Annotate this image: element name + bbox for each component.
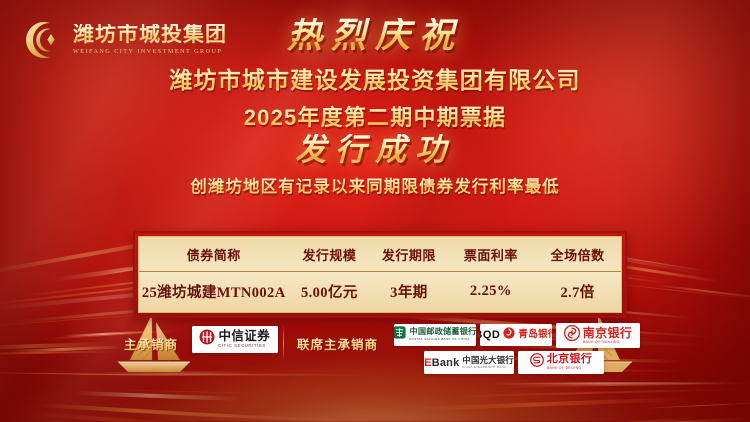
cell-issue-term: 3年期 [370, 272, 447, 313]
underwriters-section: 主承销商 联席主承销商 中信证券 CITIC SECURITIES [0, 322, 750, 382]
issue-name-line: 2025年度第二期中期票据 [0, 100, 750, 132]
light-ray [581, 417, 748, 422]
light-ray [453, 388, 745, 398]
everbright-logo-icon: EBank [424, 357, 459, 369]
celebrate-title: 热烈庆祝 [0, 18, 750, 55]
company-name-line: 潍坊市城市建设发展投资集团有限公司 [0, 61, 750, 95]
th-subscription-multiple: 全场倍数 [534, 237, 621, 272]
cell-issue-size: 5.00亿元 [288, 272, 370, 313]
celebration-poster: 潍坊市城投集团 WEIFANG CITY INVESTMENT GROUP 热烈… [0, 0, 750, 422]
ceb-name-cn: 中国光大银行 [462, 356, 513, 364]
ceb-name-en: CHINA EVERBRIGHT BANK [462, 366, 509, 369]
cell-bond-name: 25潍坊城建MTN002A [139, 272, 288, 313]
th-bond-name: 债券简称 [139, 237, 288, 272]
cell-coupon-rate: 2.25% [447, 272, 534, 313]
light-ray [496, 382, 750, 388]
light-ray [490, 382, 732, 385]
light-ray [100, 408, 370, 422]
lead-underwriter-label: 主承销商 [124, 334, 178, 353]
citic-securities-logo-icon [199, 329, 215, 350]
bond-table-head: 债券简称 发行规模 发行期限 票面利率 全场倍数 [139, 237, 621, 272]
cell-subscription-multiple: 2.7倍 [534, 272, 621, 313]
th-coupon-rate: 票面利率 [447, 237, 534, 272]
bob-name-cn: 北京银行 [547, 354, 593, 365]
bank-of-nanjing-logo-icon [564, 325, 580, 346]
headline-block: 热烈庆祝 潍坊市城市建设发展投资集团有限公司 2025年度第二期中期票据 发行成… [0, 18, 750, 197]
light-ray [38, 403, 257, 420]
citic-name-cn: 中信证券 [218, 330, 270, 343]
success-title: 发行成功 [0, 134, 750, 167]
citic-name-en: CITIC SECURITIES [218, 345, 266, 349]
bond-table-inner: 债券简称 发行规模 发行期限 票面利率 全场倍数 25潍坊城建MTN002A 5… [138, 236, 622, 313]
joint-underwriter-label: 联席主承销商 [297, 334, 378, 353]
light-ray [30, 412, 191, 422]
table-row: 25潍坊城建MTN002A 5.00亿元 3年期 2.25% 2.7倍 [139, 272, 621, 313]
bank-of-beijing-logo-icon [530, 353, 544, 372]
underwriter-divider [283, 324, 284, 362]
light-ray [653, 283, 750, 300]
bond-table-body: 25潍坊城建MTN002A 5.00亿元 3年期 2.25% 2.7倍 [139, 272, 621, 313]
psbc-logo-icon [394, 326, 406, 344]
bqd-name-cn: 青岛银行 [518, 330, 552, 340]
bqd-logo-icon [503, 326, 515, 344]
underwriter-logo-bank-of-qingdao: BQD 青岛银行 [480, 324, 552, 346]
light-ray [100, 389, 288, 395]
nanjing-name-en: BANK OF NANJING [583, 341, 629, 344]
nanjing-name-cn: 南京银行 [583, 327, 633, 339]
subtitle-line: 创潍坊地区有记录以来同期限债券发行利率最低 [0, 173, 750, 197]
th-issue-term: 发行期限 [370, 237, 447, 272]
table-header-row: 债券简称 发行规模 发行期限 票面利率 全场倍数 [139, 237, 621, 272]
underwriter-logo-psbc: 中国邮政储蓄银行 POSTAL SAVINGS BANK OF CHINA [394, 324, 476, 346]
psbc-name-cn: 中国邮政储蓄银行 [409, 328, 476, 336]
psbc-name-en: POSTAL SAVINGS BANK OF CHINA [409, 339, 471, 342]
light-ray [76, 391, 240, 400]
underwriter-logo-bank-of-beijing: 北京银行 BANK OF BEIJING [518, 351, 604, 374]
bond-table-frame: 债券简称 发行规模 发行期限 票面利率 全场倍数 25潍坊城建MTN002A 5… [133, 231, 627, 318]
bob-name-en: BANK OF BEIJING [547, 367, 589, 370]
light-ray [413, 397, 687, 411]
underwriter-logo-china-everbright-bank: EBank 中国光大银行 CHINA EVERBRIGHT BANK [424, 351, 514, 374]
everbright-wordmark: Bank [432, 357, 460, 369]
bqd-wordmark: BQD [480, 329, 500, 341]
underwriter-logo-citic-securities: 中信证券 CITIC SECURITIES [192, 326, 278, 353]
bond-table: 债券简称 发行规模 发行期限 票面利率 全场倍数 25潍坊城建MTN002A 5… [139, 237, 621, 312]
light-ray [506, 417, 698, 422]
light-ray [642, 402, 750, 409]
th-issue-size: 发行规模 [288, 237, 370, 272]
underwriter-logo-bank-of-nanjing: 南京银行 BANK OF NANJING [556, 323, 640, 348]
